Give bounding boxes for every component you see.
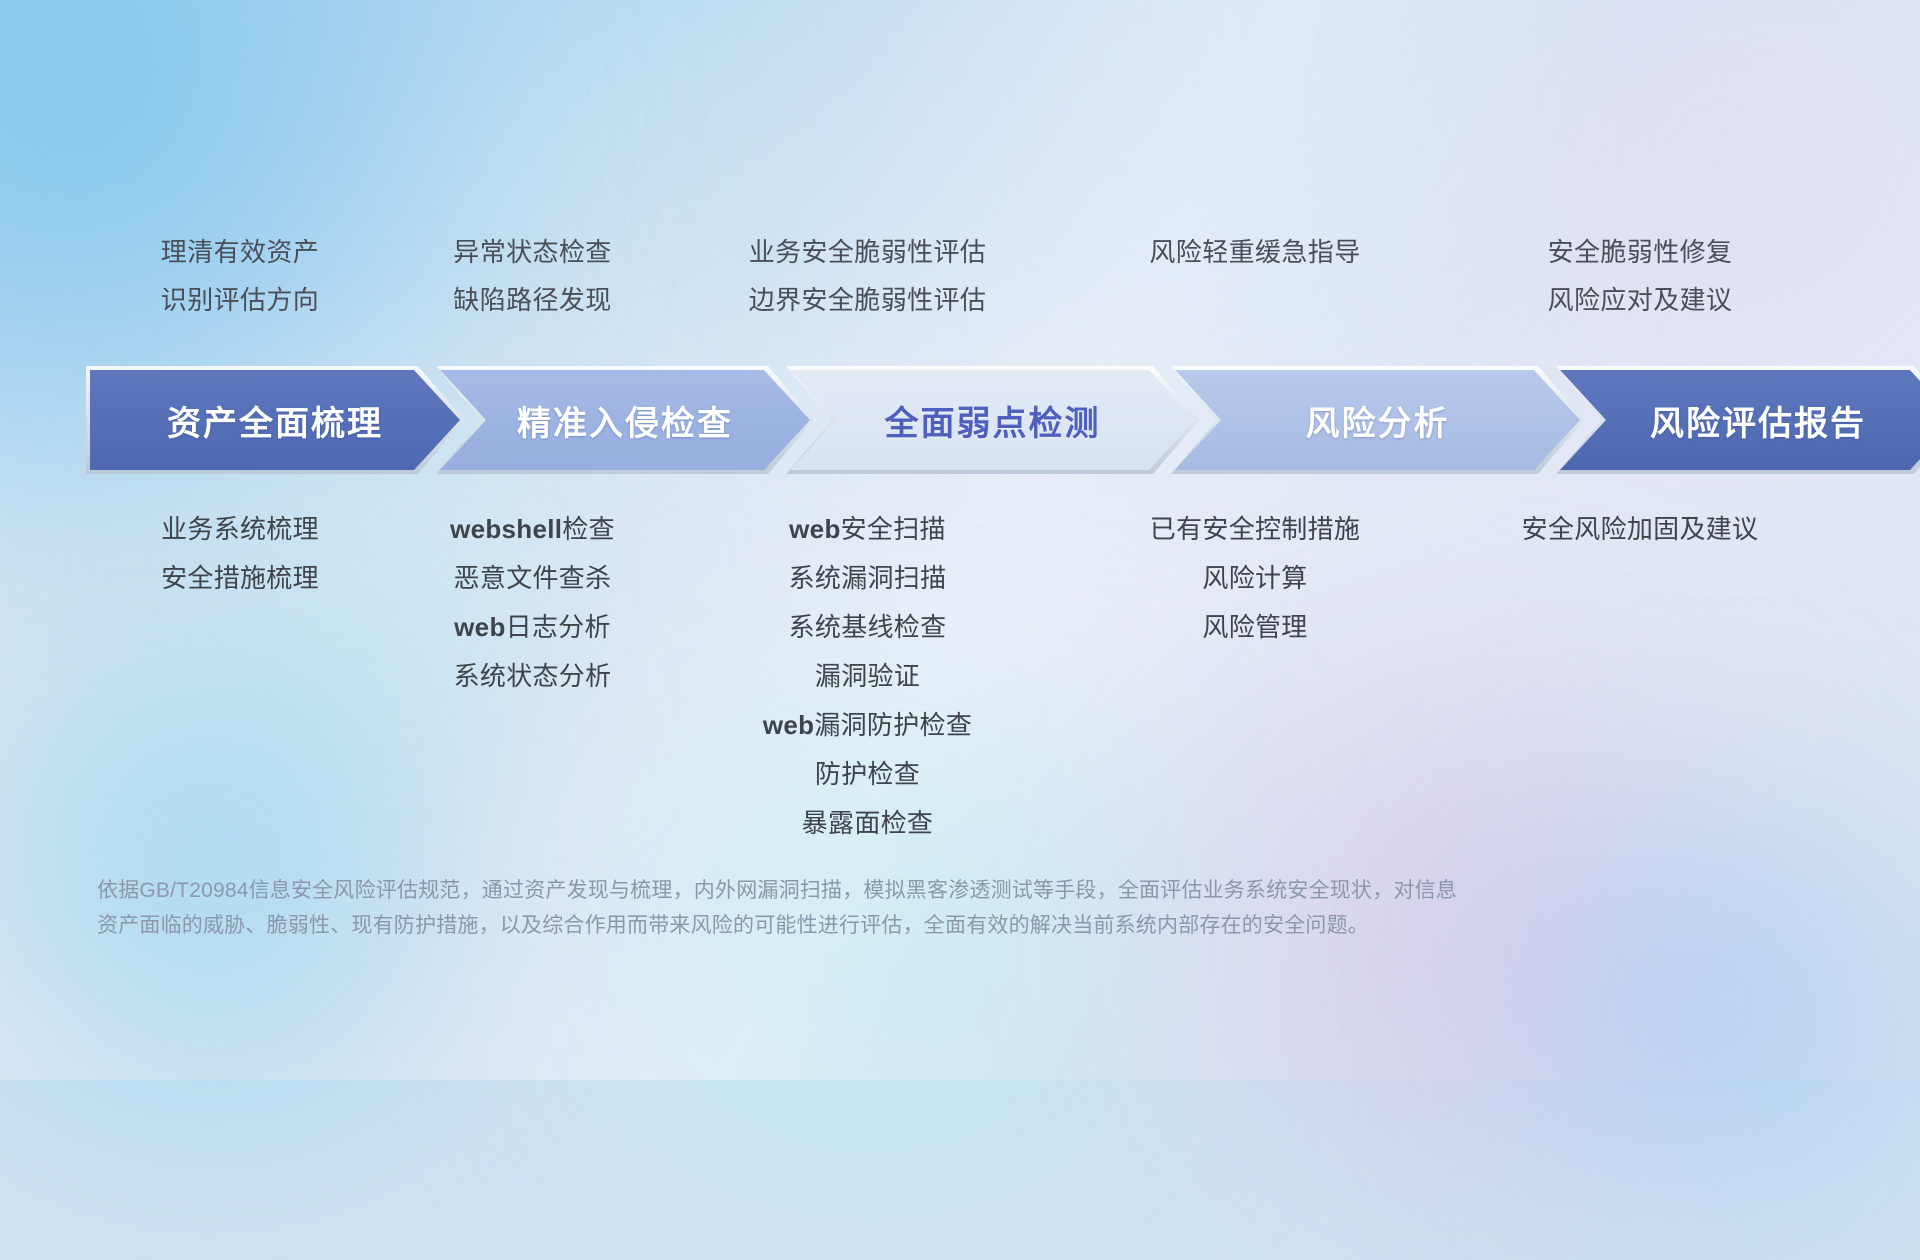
item-cjk: 检查 (562, 514, 615, 544)
item-cjk: 系统状态分析 (454, 661, 612, 691)
stage-arrow-1-label: 资产全面梳理 (167, 396, 383, 445)
stage-arrow-5-label: 风险评估报告 (1650, 396, 1866, 445)
item-cjk: 日志分析 (506, 612, 611, 642)
item-latin: web (763, 710, 814, 740)
list-item: 系统状态分析 (454, 652, 612, 701)
bottom-item-group-5: 安全风险加固及建议 (1450, 505, 1830, 554)
list-item: 暴露面检查 (802, 799, 934, 848)
footer-line-2: 资产面临的威胁、脆弱性、现有防护措施，以及综合作用而带来风险的可能性进行评估，全… (97, 908, 1597, 943)
stage-arrow-2-label: 精准入侵检查 (517, 396, 733, 445)
list-item: web漏洞防护检查 (763, 701, 972, 750)
bottom-item-group-2: webshell检查 恶意文件查杀 web日志分析 系统状态分析 (390, 505, 675, 701)
item-cjk: 漏洞防护检查 (814, 710, 972, 740)
item-cjk: 系统漏洞扫描 (789, 563, 947, 593)
top-caption: 风险应对及建议 (1548, 276, 1733, 324)
item-cjk: 已有安全控制措施 (1150, 514, 1360, 544)
bottom-item-group-1: 业务系统梳理 安全措施梳理 (90, 505, 390, 603)
top-caption: 风险轻重缓急指导 (1149, 228, 1360, 276)
top-caption: 识别评估方向 (161, 276, 319, 324)
item-cjk: 风险计算 (1202, 563, 1307, 593)
top-caption-row: 理清有效资产 识别评估方向 异常状态检查 缺陷路径发现 业务安全脆弱性评估 边界… (90, 228, 1830, 338)
stage-arrow-5[interactable]: 风险评估报告 (1560, 370, 1920, 470)
stage-arrow-4-label: 风险分析 (1306, 396, 1450, 445)
footer-line-1: 依据GB/T20984信息安全风险评估规范，通过资产发现与梳理，内外网漏洞扫描，… (97, 873, 1597, 908)
stage-arrow-2[interactable]: 精准入侵检查 (440, 370, 810, 470)
item-latin: webshell (450, 514, 562, 544)
top-caption: 业务安全脆弱性评估 (749, 228, 987, 276)
item-cjk: 风险管理 (1202, 612, 1307, 642)
item-latin: web (789, 514, 840, 544)
stage-arrow-3-label: 全面弱点检测 (885, 396, 1101, 445)
list-item: 安全措施梳理 (161, 554, 319, 603)
list-item: 业务系统梳理 (161, 505, 319, 554)
stage-arrow-3[interactable]: 全面弱点检测 (790, 370, 1195, 470)
item-cjk: 安全扫描 (841, 514, 946, 544)
list-item: 漏洞验证 (815, 652, 920, 701)
item-cjk: 恶意文件查杀 (454, 563, 612, 593)
top-caption: 边界安全脆弱性评估 (749, 276, 987, 324)
item-cjk: 暴露面检查 (802, 808, 934, 838)
top-caption: 异常状态检查 (453, 228, 611, 276)
top-caption-group-3: 业务安全脆弱性评估 边界安全脆弱性评估 (675, 228, 1060, 338)
list-item: web日志分析 (454, 603, 611, 652)
list-item: 安全风险加固及建议 (1522, 505, 1759, 554)
item-cjk: 防护检查 (815, 759, 920, 789)
list-item: web安全扫描 (789, 505, 946, 554)
list-item: 恶意文件查杀 (454, 554, 612, 603)
top-caption-group-4: 风险轻重缓急指导 (1060, 228, 1450, 338)
item-cjk: 安全措施梳理 (161, 563, 319, 593)
list-item: 系统漏洞扫描 (789, 554, 947, 603)
item-latin: web (454, 612, 505, 642)
item-cjk: 系统基线检查 (789, 612, 947, 642)
stage-arrow-banner: 资产全面梳理 精准入侵检查 全面弱点检测 风险分析 风险评估报告 (90, 370, 1856, 470)
top-caption: 理清有效资产 (161, 228, 319, 276)
bottom-item-row: 业务系统梳理 安全措施梳理 webshell检查 恶意文件查杀 web日志分析 … (90, 505, 1830, 848)
item-cjk: 漏洞验证 (815, 661, 920, 691)
list-item: webshell检查 (450, 505, 615, 554)
process-diagram: 理清有效资产 识别评估方向 异常状态检查 缺陷路径发现 业务安全脆弱性评估 边界… (0, 0, 1920, 1080)
stage-arrow-4[interactable]: 风险分析 (1175, 370, 1580, 470)
stage-arrow-1[interactable]: 资产全面梳理 (90, 370, 460, 470)
list-item: 防护检查 (815, 750, 920, 799)
list-item: 风险计算 (1202, 554, 1307, 603)
top-caption-group-5: 安全脆弱性修复 风险应对及建议 (1450, 228, 1830, 338)
top-caption: 安全脆弱性修复 (1548, 228, 1733, 276)
item-cjk: 业务系统梳理 (161, 514, 319, 544)
top-caption: 缺陷路径发现 (453, 276, 611, 324)
bottom-item-group-3: web安全扫描 系统漏洞扫描 系统基线检查 漏洞验证 web漏洞防护检查 防护检… (675, 505, 1060, 848)
top-caption-group-2: 异常状态检查 缺陷路径发现 (390, 228, 675, 338)
top-caption-group-1: 理清有效资产 识别评估方向 (90, 228, 390, 338)
list-item: 已有安全控制措施 (1150, 505, 1360, 554)
footer-description: 依据GB/T20984信息安全风险评估规范，通过资产发现与梳理，内外网漏洞扫描，… (97, 873, 1597, 943)
list-item: 风险管理 (1202, 603, 1307, 652)
list-item: 系统基线检查 (789, 603, 947, 652)
item-cjk: 安全风险加固及建议 (1522, 514, 1759, 544)
bottom-item-group-4: 已有安全控制措施 风险计算 风险管理 (1060, 505, 1450, 652)
